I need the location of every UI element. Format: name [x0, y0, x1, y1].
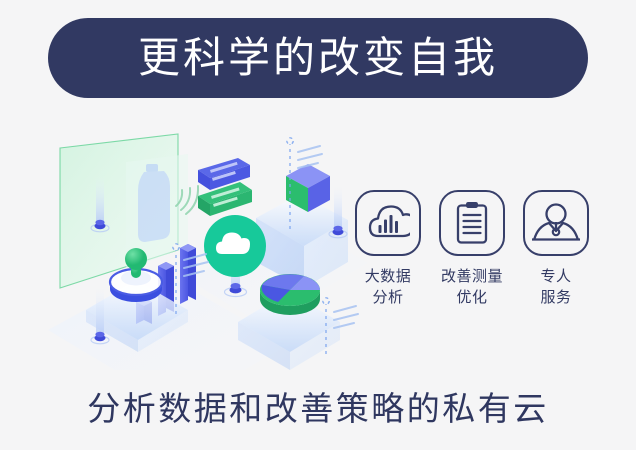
- feature-list: 大数据 分析 改善测量 优化: [352, 190, 592, 325]
- pie-chart-3d: [260, 274, 320, 315]
- poster-root: 更科学的改变自我: [0, 0, 636, 450]
- caption-text: 分析数据和改善策略的私有云: [0, 382, 636, 430]
- feature-icon-box: [439, 190, 505, 256]
- cloud-bar-chart-icon: [366, 203, 410, 243]
- header-banner: 更科学的改变自我: [48, 18, 588, 98]
- feature-label: 大数据 分析: [365, 267, 412, 308]
- person-service-icon: [532, 201, 580, 245]
- feature-label: 改善测量 优化: [441, 267, 503, 308]
- feature-icon-box: [523, 190, 589, 256]
- isometric-illustration: [38, 120, 368, 370]
- feature-label: 专人 服务: [540, 267, 571, 308]
- clipboard-icon: [455, 201, 489, 245]
- bottle-silhouette: [138, 164, 170, 242]
- feature-item-measurement[interactable]: 改善测量 优化: [436, 190, 508, 325]
- feature-item-big-data[interactable]: 大数据 分析: [352, 190, 424, 325]
- page-title: 更科学的改变自我: [138, 37, 498, 79]
- feature-icon-box: [355, 190, 421, 256]
- feature-item-support[interactable]: 专人 服务: [520, 190, 592, 325]
